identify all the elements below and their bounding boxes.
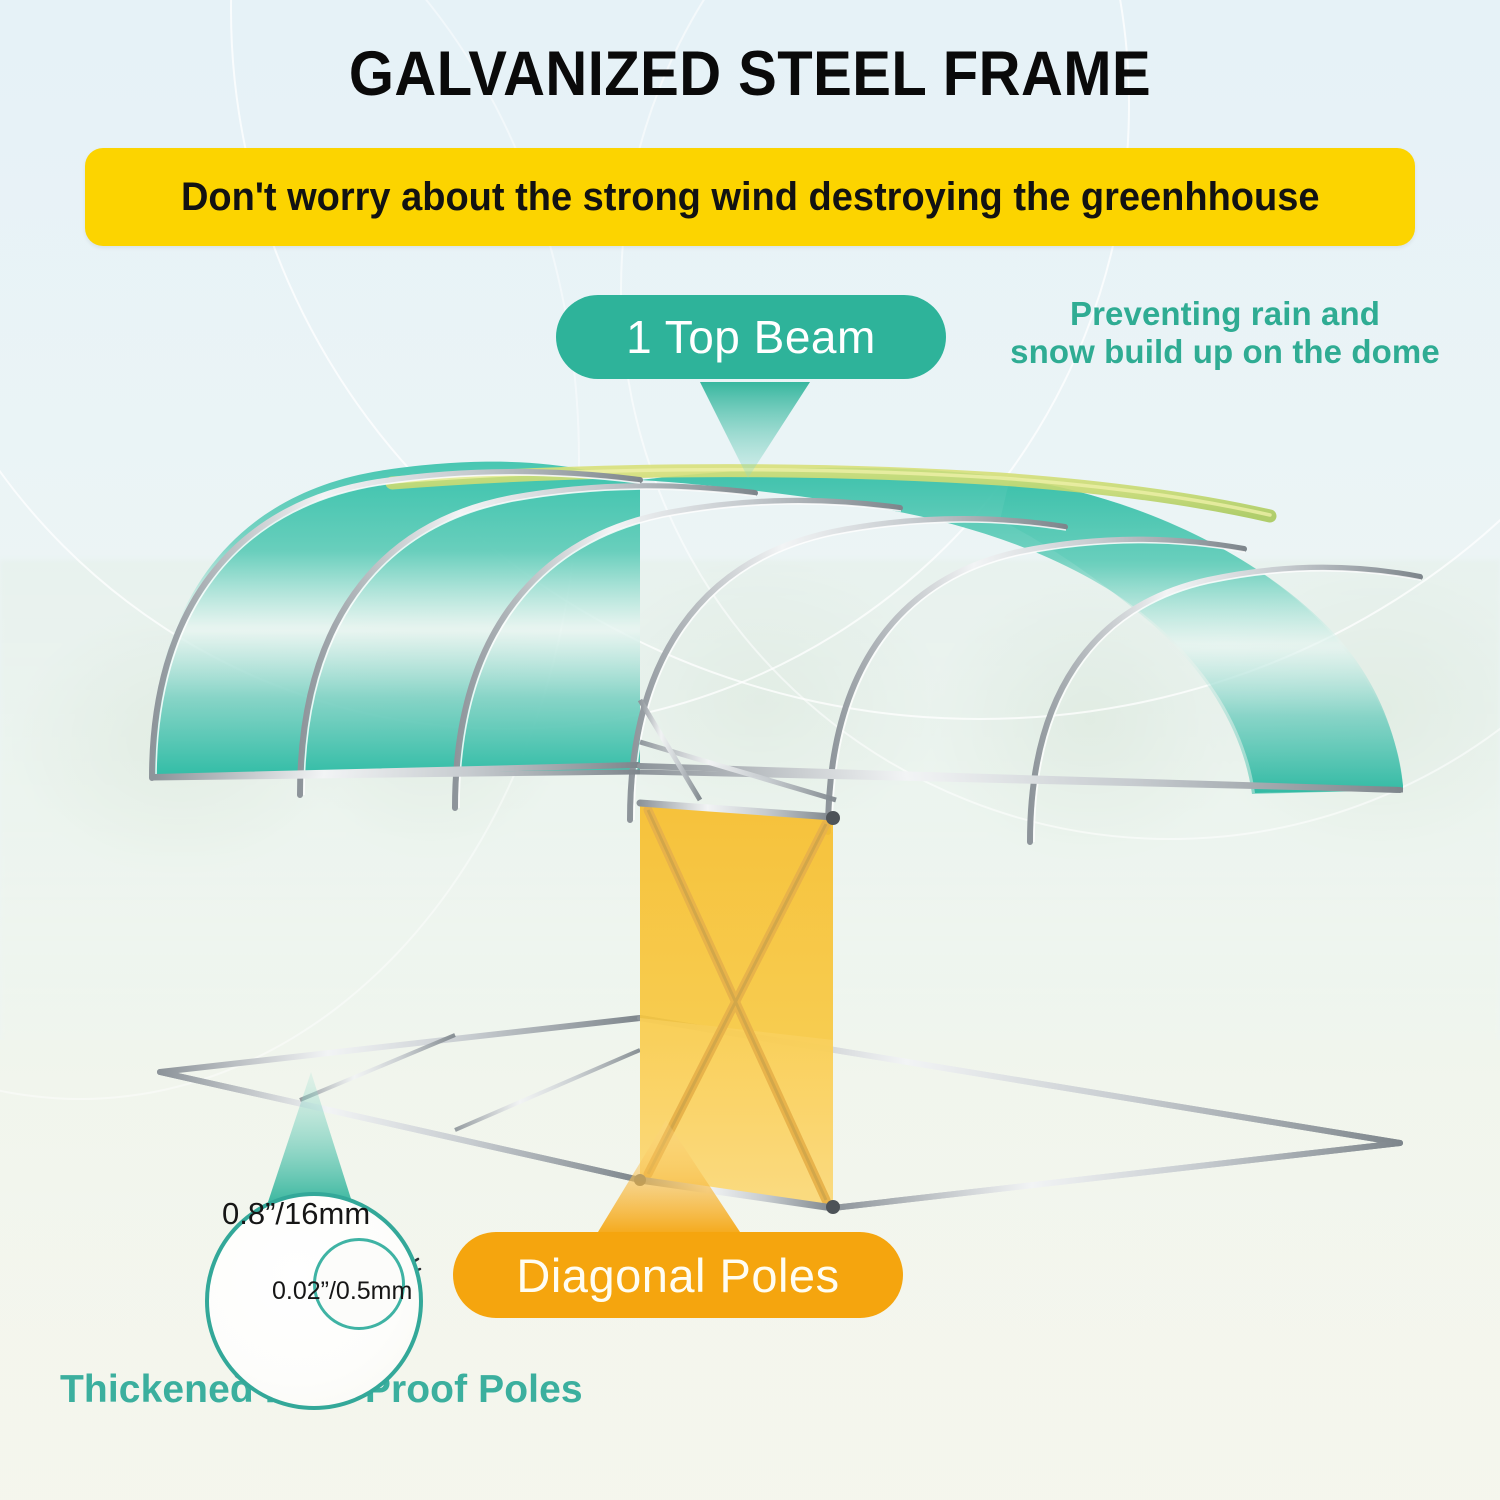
badge-top-beam[interactable]: 1 Top Beam	[556, 295, 946, 379]
banner-text: Don't worry about the strong wind destro…	[181, 175, 1320, 220]
headline-banner: Don't worry about the strong wind destro…	[85, 148, 1415, 246]
rain-snow-note-line1: Preventing rain and	[975, 295, 1475, 333]
infographic-canvas: GALVANIZED STEEL FRAME Don't worry about…	[0, 0, 1500, 1500]
badge-top-beam-label: 1 Top Beam	[626, 310, 876, 364]
connector-top	[826, 811, 840, 825]
rust-proof-pointer-cone	[268, 1072, 352, 1202]
rain-snow-note: Preventing rain and snow build up on the…	[975, 295, 1475, 372]
top-beam-pointer-cone	[700, 382, 810, 478]
rain-snow-note-line2: snow build up on the dome	[975, 333, 1475, 371]
pole-wall-thickness-label: 0.02”/0.5mm	[272, 1277, 442, 1306]
pole-diameter-label: 0.8”/16mm	[222, 1196, 412, 1232]
badge-diagonal-poles-label: Diagonal Poles	[516, 1248, 839, 1303]
connector-bottom	[826, 1200, 840, 1214]
door-arch-brace	[640, 700, 836, 800]
badge-diagonal-poles[interactable]: Diagonal Poles	[453, 1232, 903, 1318]
page-title: GALVANIZED STEEL FRAME	[60, 38, 1440, 110]
